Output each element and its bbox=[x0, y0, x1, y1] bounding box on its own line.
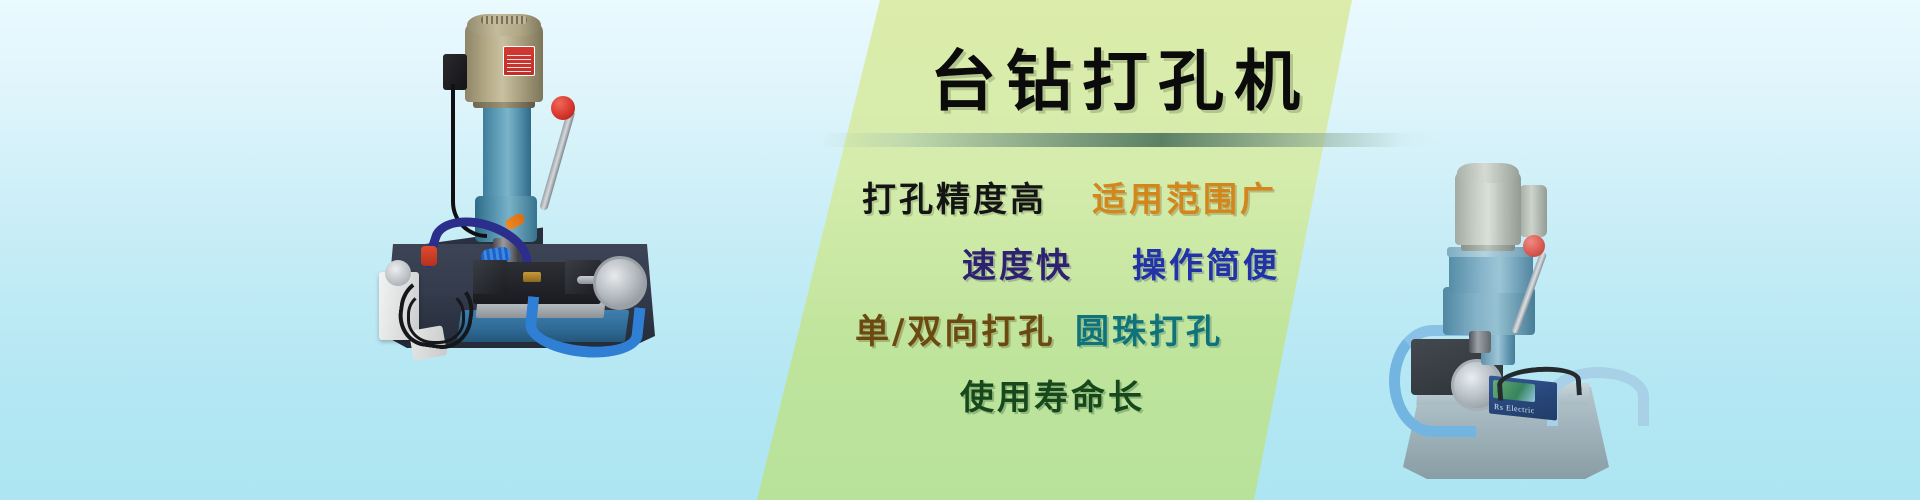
machine-right-box-label: Rs Electric bbox=[1494, 402, 1535, 415]
product-photo-left bbox=[355, 10, 675, 375]
machine-right-capacitor bbox=[1519, 185, 1547, 237]
feature-label-wide-application: 适用范围广 bbox=[1092, 172, 1277, 221]
machine-right-arm bbox=[1449, 253, 1533, 293]
machine-left-power-cable-coil bbox=[407, 290, 465, 344]
machine-left-motor-wire bbox=[451, 84, 487, 238]
title-divider bbox=[819, 133, 1442, 147]
feature-label-easy-operation: 操作简便 bbox=[1132, 238, 1280, 287]
machine-left-side-wheel bbox=[385, 260, 411, 286]
machine-left-lever-knob bbox=[551, 96, 575, 120]
product-photo-right: Rs Electric bbox=[1397, 135, 1629, 495]
machine-left-feed-lever bbox=[539, 109, 575, 211]
feature-label-long-lifespan: 使用寿命长 bbox=[960, 370, 1145, 419]
feature-label-single-double-drilling: 单/双向打孔 bbox=[855, 304, 1055, 353]
machine-left-vise-jaw-left bbox=[473, 260, 507, 294]
banner-title-wrap: 台钻打孔机 bbox=[930, 40, 1490, 122]
machine-right-motor-cap bbox=[1457, 163, 1519, 183]
machine-left-handwheel bbox=[593, 256, 647, 310]
banner-title: 台钻打孔机 bbox=[930, 40, 1490, 122]
machine-right-strap bbox=[1496, 364, 1582, 401]
feature-label-ball-drilling: 圆珠打孔 bbox=[1075, 304, 1223, 353]
machine-right-lever-knob bbox=[1523, 235, 1545, 257]
machine-left-motor-vent bbox=[481, 16, 527, 24]
product-banner: Rs Electric 台钻打孔机 打孔精度高 适用范围广 速度快 操作简便 单… bbox=[0, 0, 1920, 500]
title-divider-wrap bbox=[818, 128, 1443, 152]
machine-left-brass-fitting bbox=[523, 272, 541, 282]
machine-left-drain-hose bbox=[522, 296, 645, 363]
feature-label-fast-speed: 速度快 bbox=[962, 238, 1073, 287]
machine-right-drill-chuck bbox=[1469, 331, 1491, 353]
machine-left-motor-label bbox=[503, 46, 535, 76]
feature-label-drill-precision: 打孔精度高 bbox=[862, 172, 1047, 221]
machine-left-hose-valve bbox=[421, 246, 437, 266]
